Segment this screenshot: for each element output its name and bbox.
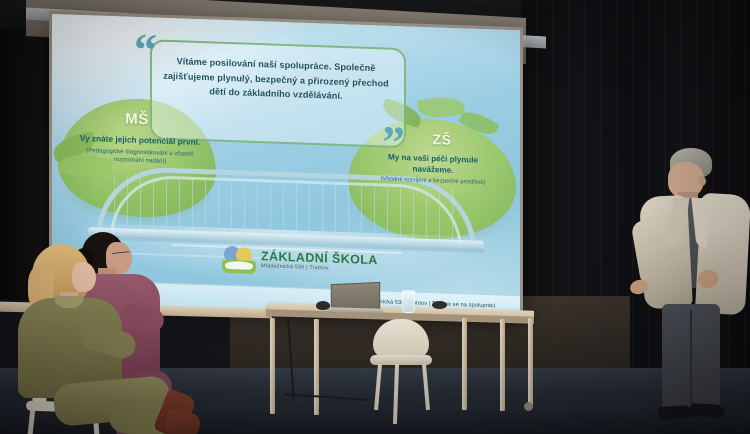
speaker-trouser-seam: [690, 310, 692, 410]
right-message: My na vaši péči plynule navážeme. (Vhodn…: [368, 151, 498, 188]
label-ms: MŠ: [92, 109, 182, 129]
quote-mark-open-icon: “: [134, 33, 157, 67]
logo-page-icon: [225, 261, 253, 270]
speaker-ear: [698, 176, 706, 186]
school-logo: ZÁKLADNÍ ŠKOLA Mládežnická 536 | Trutnov: [222, 242, 382, 282]
desk-object: [432, 301, 447, 309]
slide-quote-text: Vítáme posilování naší spolupráce. Spole…: [156, 53, 396, 106]
seated-woman-front: [14, 244, 174, 434]
school-logo-mark-icon: [222, 245, 256, 274]
speaker-shoe-left: [658, 405, 693, 420]
speaker-shoe-right: [690, 403, 725, 418]
table-caster: [524, 402, 533, 411]
leaf-icon-4: [417, 94, 466, 120]
table-leg-1: [270, 318, 275, 414]
chair-behind-desk: [370, 319, 432, 381]
right-headline: My na vaši péči plynule navážeme.: [368, 151, 498, 179]
left-message: Vy znáte jejich potenciál první. (Pedago…: [78, 133, 202, 168]
speaker: [636, 148, 750, 434]
school-logo-text: ZÁKLADNÍ ŠKOLA Mládežnická 536 | Trutnov: [261, 250, 378, 274]
label-zs: ZŠ: [404, 130, 480, 149]
table-leg-3: [462, 318, 467, 410]
table-leg-5: [528, 318, 533, 406]
table-leg-4: [500, 319, 505, 411]
computer-mouse[interactable]: [316, 301, 330, 310]
chair-backrest: [373, 319, 429, 359]
water-glass: [402, 290, 415, 313]
presentation-photo: “ ” Vítáme posilování naší spolupráce. S…: [0, 0, 750, 434]
front-woman-face: [72, 262, 96, 292]
table-leg-2: [314, 319, 319, 415]
